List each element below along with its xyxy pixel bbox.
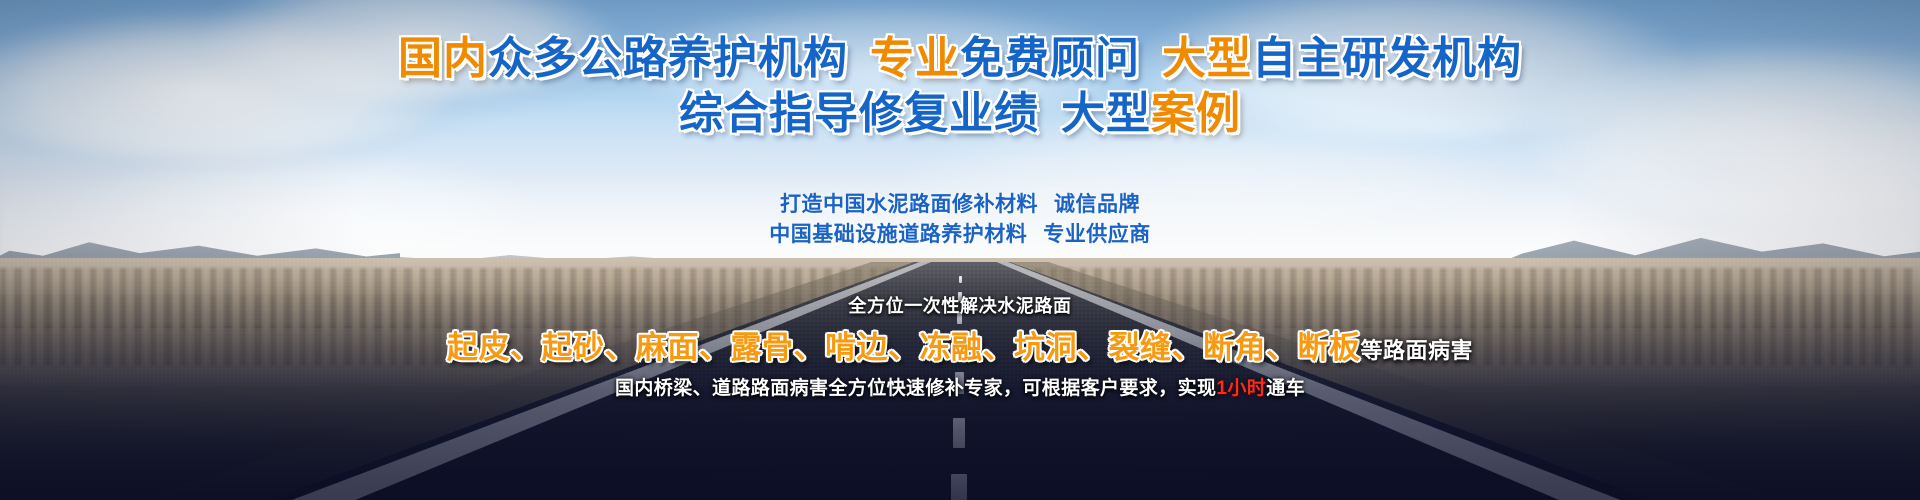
headline-seg-guidance: 综合指导修复业绩 [679, 89, 1039, 138]
defects-list: 起皮、起砂、麻面、露骨、啃边、冻融、坑洞、裂缝、断角、断板 [447, 330, 1361, 365]
tagline-part-1: 国内桥梁、道路路面病害全方位快速修补专家，可根据客户要求，实现 [615, 378, 1216, 399]
slogan-integrity-text: 诚信品牌 [1054, 193, 1140, 216]
headline-seg-rd: 自主研发机构 [1252, 34, 1522, 83]
slogan-brand-text: 打造中国水泥路面修补材料 [780, 193, 1038, 216]
headline-seg-cases: 案例 [1151, 89, 1241, 138]
bottom-kicker: 全方位一次性解决水泥路面 [0, 292, 1920, 318]
headline-seg-professional: 专业 [870, 34, 960, 83]
headline-line-1: 国内众多公路养护机构专业免费顾问大型自主研发机构 [0, 34, 1920, 83]
headline-line-2: 综合指导修复业绩大型案例 [0, 89, 1920, 138]
defects-suffix: 等路面病害 [1360, 338, 1473, 363]
slogan-line-2: 中国基础设施道路养护材料专业供应商 [0, 220, 1920, 250]
headline-seg-large: 大型 [1162, 34, 1252, 83]
slogan-infrastructure-text: 中国基础设施道路养护材料 [769, 223, 1027, 246]
headline-seg-large2: 大型 [1061, 89, 1151, 138]
hero-headline: 国内众多公路养护机构专业免费顾问大型自主研发机构 综合指导修复业绩大型案例 [0, 34, 1920, 139]
bottom-tagline: 国内桥梁、道路路面病害全方位快速修补专家，可根据客户要求，实现1小时通车 [0, 373, 1920, 400]
tagline-highlight-hour: 1小时 [1216, 378, 1266, 399]
tagline-part-2: 通车 [1266, 378, 1305, 399]
banner-content: 国内众多公路养护机构专业免费顾问大型自主研发机构 综合指导修复业绩大型案例 打造… [0, 0, 1920, 500]
headline-seg-agencies: 众多公路养护机构 [488, 34, 848, 83]
slogan-block: 打造中国水泥路面修补材料诚信品牌 中国基础设施道路养护材料专业供应商 [0, 190, 1920, 250]
headline-seg-domestic: 国内 [398, 34, 488, 83]
bottom-defects-line: 起皮、起砂、麻面、露骨、啃边、冻融、坑洞、裂缝、断角、断板等路面病害 [0, 322, 1920, 367]
headline-seg-free-consult: 免费顾问 [960, 34, 1140, 83]
bottom-block: 全方位一次性解决水泥路面 起皮、起砂、麻面、露骨、啃边、冻融、坑洞、裂缝、断角、… [0, 292, 1920, 400]
slogan-line-1: 打造中国水泥路面修补材料诚信品牌 [0, 190, 1920, 220]
slogan-supplier-text: 专业供应商 [1043, 223, 1151, 246]
promo-banner: 国内众多公路养护机构专业免费顾问大型自主研发机构 综合指导修复业绩大型案例 打造… [0, 0, 1920, 500]
